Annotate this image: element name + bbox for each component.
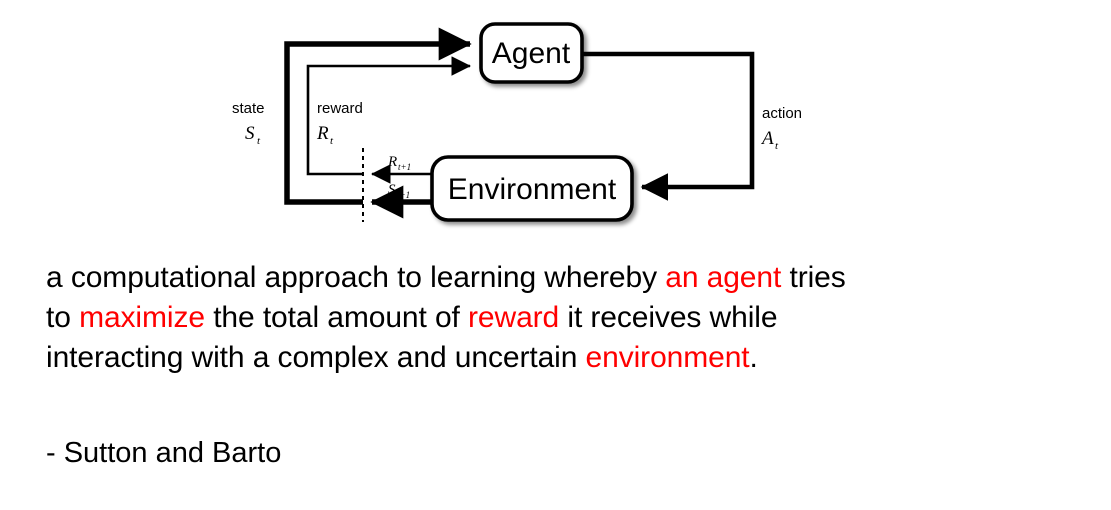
reward-label: reward R t bbox=[316, 100, 363, 147]
action-label-subscript: t bbox=[775, 140, 779, 152]
quote-attribution: - Sutton and Barto bbox=[46, 437, 281, 470]
quote-line-3: interacting with a complex and uncertain… bbox=[46, 338, 1076, 378]
next-reward-label-symbol: R bbox=[387, 154, 397, 170]
next-reward-label-subscript: t+1 bbox=[398, 162, 411, 172]
reward-label-subscript: t bbox=[330, 135, 334, 147]
environment-node: Environment bbox=[432, 157, 632, 220]
action-label-symbol: A bbox=[760, 128, 774, 149]
quote-line-1-text-part2: tries bbox=[781, 261, 845, 294]
agent-node-label: Agent bbox=[492, 37, 571, 70]
action-label: action A t bbox=[760, 105, 802, 152]
quote-line-2-highlight-reward: reward bbox=[468, 301, 559, 334]
quote-line-2-text-part3: it receives while bbox=[559, 301, 777, 334]
quote-line-3-highlight-environment: environment bbox=[586, 341, 750, 374]
quote-line-2-highlight-maximize: maximize bbox=[79, 301, 205, 334]
quote-line-2-text-part2: the total amount of bbox=[205, 301, 468, 334]
agent-node: Agent bbox=[481, 24, 582, 82]
state-label-word: state bbox=[232, 100, 265, 117]
quote-line-3-text-part1: interacting with a complex and uncertain bbox=[46, 341, 586, 374]
environment-node-label: Environment bbox=[448, 173, 617, 206]
quote-line-1: a computational approach to learning whe… bbox=[46, 258, 1076, 298]
reward-label-symbol: R bbox=[316, 123, 329, 144]
rl-loop-diagram: Agent Environment state S t reward R t a… bbox=[0, 0, 1111, 245]
state-label-subscript: t bbox=[257, 135, 261, 147]
next-state-label-symbol: S bbox=[388, 182, 396, 198]
quote-block: a computational approach to learning whe… bbox=[46, 258, 1076, 378]
state-label: state S t bbox=[232, 100, 265, 147]
next-state-label-subscript: t+1 bbox=[397, 190, 410, 200]
quote-line-2-text-part1: to bbox=[46, 301, 79, 334]
next-state-label: S t+1 bbox=[388, 182, 410, 200]
state-label-symbol: S bbox=[245, 123, 255, 144]
quote-line-2: to maximize the total amount of reward i… bbox=[46, 298, 1076, 338]
quote-line-3-text-part2: . bbox=[750, 341, 758, 374]
next-reward-label: R t+1 bbox=[387, 154, 411, 172]
action-label-word: action bbox=[762, 105, 802, 122]
quote-line-1-text-part1: a computational approach to learning whe… bbox=[46, 261, 665, 294]
quote-line-1-highlight-agent: an agent bbox=[665, 261, 781, 294]
reward-label-word: reward bbox=[317, 100, 363, 117]
